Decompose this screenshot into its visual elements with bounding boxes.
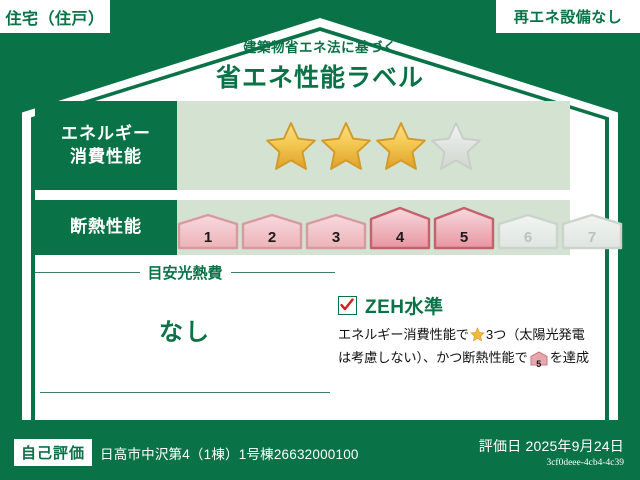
house-badge-icon	[561, 213, 623, 250]
insulation-performance-label: 断熱性能	[35, 200, 177, 255]
zeh-desc-part2: 3つ（太陽光発電	[486, 327, 585, 342]
utility-cost-label: 目安光熱費	[148, 262, 223, 283]
renewable-energy-chip: 再エネ設備なし	[496, 0, 640, 33]
evaluation-date: 評価日 2025年9月24日	[479, 436, 624, 456]
inline-badge-number: 5	[530, 358, 548, 372]
star-icon-filled	[375, 120, 427, 172]
evaluation-uuid: 3cf0deee-4cb4-4c39	[479, 458, 624, 468]
insulation-badge-2: 2	[241, 213, 303, 250]
zeh-header: ZEH水準	[338, 292, 608, 319]
insulation-badge-7: 7	[561, 213, 623, 250]
property-address: 日高市中沢第4（1棟）1号棟26632000100	[100, 443, 359, 463]
insulation-grade-scale: 1234567	[177, 206, 623, 250]
star-icon-filled	[320, 120, 372, 172]
insulation-performance-value: 1234567	[177, 200, 623, 255]
insulation-badge-4: 4	[369, 206, 431, 250]
page-title: 省エネ性能ラベル	[0, 58, 640, 94]
house-badge-icon	[369, 206, 431, 250]
zeh-description: エネルギー消費性能で 3つ（太陽光発電 は考慮しない）、かつ断熱性能で 5を達成	[338, 325, 608, 373]
house-badge-icon	[305, 213, 367, 250]
insulation-badge-5: 5	[433, 206, 495, 250]
divider-right	[231, 272, 336, 273]
insulation-performance-row: 断熱性能 1234567	[35, 200, 570, 255]
check-icon	[338, 296, 357, 315]
zeh-title: ZEH水準	[365, 292, 444, 319]
star-icon-empty	[430, 120, 482, 172]
star-rating	[265, 120, 482, 172]
insulation-badge-3: 3	[305, 213, 367, 250]
building-type-chip: 住宅（住戸）	[0, 0, 110, 33]
house-badge-icon	[177, 213, 239, 250]
energy-performance-label: エネルギー 消費性能	[35, 101, 177, 190]
insulation-badge-1: 1	[177, 213, 239, 250]
utility-cost-value: なし	[35, 312, 335, 347]
insulation-badge-6: 6	[497, 213, 559, 250]
zeh-standard-block: ZEH水準 エネルギー消費性能で 3つ（太陽光発電 は考慮しない）、かつ断熱性能…	[338, 292, 608, 373]
house-badge-icon	[433, 206, 495, 250]
title-subtitle: 建築物省エネ法に基づく	[0, 36, 640, 56]
energy-label-line1: エネルギー	[61, 123, 151, 146]
star-icon-filled	[265, 120, 317, 172]
utility-cost-header: 目安光熱費	[35, 262, 335, 283]
energy-label-line2: 消費性能	[70, 146, 142, 169]
zeh-desc-part1: エネルギー消費性能で	[338, 327, 469, 342]
insulation-label-line1: 断熱性能	[70, 216, 142, 239]
house-badge-icon	[241, 213, 303, 250]
footer-left: 自己評価 日高市中沢第4（1棟）1号棟26632000100	[14, 439, 359, 466]
utility-cost-underline	[40, 392, 330, 393]
zeh-desc-part3: は考慮しない）、かつ断熱性能で	[338, 350, 528, 365]
energy-performance-value	[177, 101, 570, 190]
energy-performance-row: エネルギー 消費性能	[35, 101, 570, 190]
house-badge-icon	[497, 213, 559, 250]
zeh-desc-part4: を達成	[550, 350, 589, 365]
divider-left	[35, 272, 140, 273]
energy-label-card: 住宅（住戸） 再エネ設備なし 建築物省エネ法に基づく 省エネ性能ラベル エネルギ…	[0, 0, 640, 480]
self-evaluation-badge: 自己評価	[14, 439, 92, 466]
label-title-block: 建築物省エネ法に基づく 省エネ性能ラベル	[0, 36, 640, 94]
footer-right: 評価日 2025年9月24日 3cf0deee-4cb4-4c39	[479, 436, 624, 468]
star-icon	[470, 327, 485, 348]
inline-insulation-badge: 5	[530, 351, 548, 372]
